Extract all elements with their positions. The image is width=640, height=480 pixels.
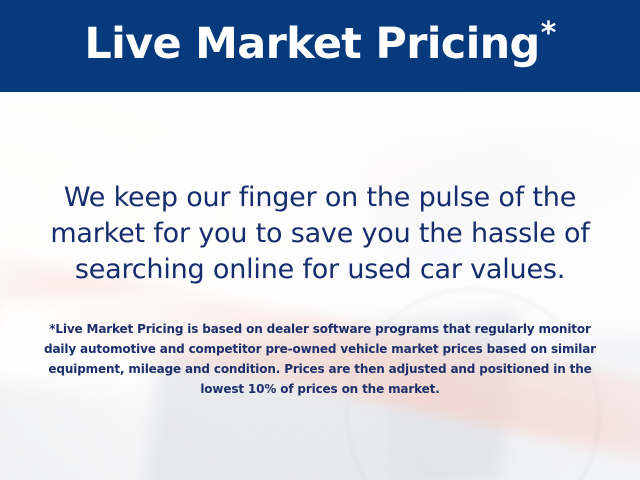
headline-line: We keep our finger on the pulse of the [20,180,620,216]
disclaimer-text: *Live Market Pricing is based on dealer … [20,319,620,399]
live-market-pricing-banner: Live Market Pricing* We keep our finger … [0,0,640,480]
page-title: Live Market Pricing* [84,23,555,69]
headline-line: searching online for used car values. [20,252,620,288]
page-title-text: Live Market Pricing [84,19,539,69]
headline: We keep our finger on the pulse of the m… [20,180,620,288]
disclaimer-line: lowest 10% of prices on the market. [20,379,620,399]
content-area: We keep our finger on the pulse of the m… [0,92,640,480]
disclaimer-line: *Live Market Pricing is based on dealer … [20,319,620,339]
disclaimer-line: daily automotive and competitor pre-owne… [20,339,620,359]
headline-line: market for you to save you the hassle of [20,216,620,252]
disclaimer-line: equipment, mileage and condition. Prices… [20,359,620,379]
header-bar: Live Market Pricing* [0,0,640,92]
page-title-asterisk: * [541,16,556,51]
